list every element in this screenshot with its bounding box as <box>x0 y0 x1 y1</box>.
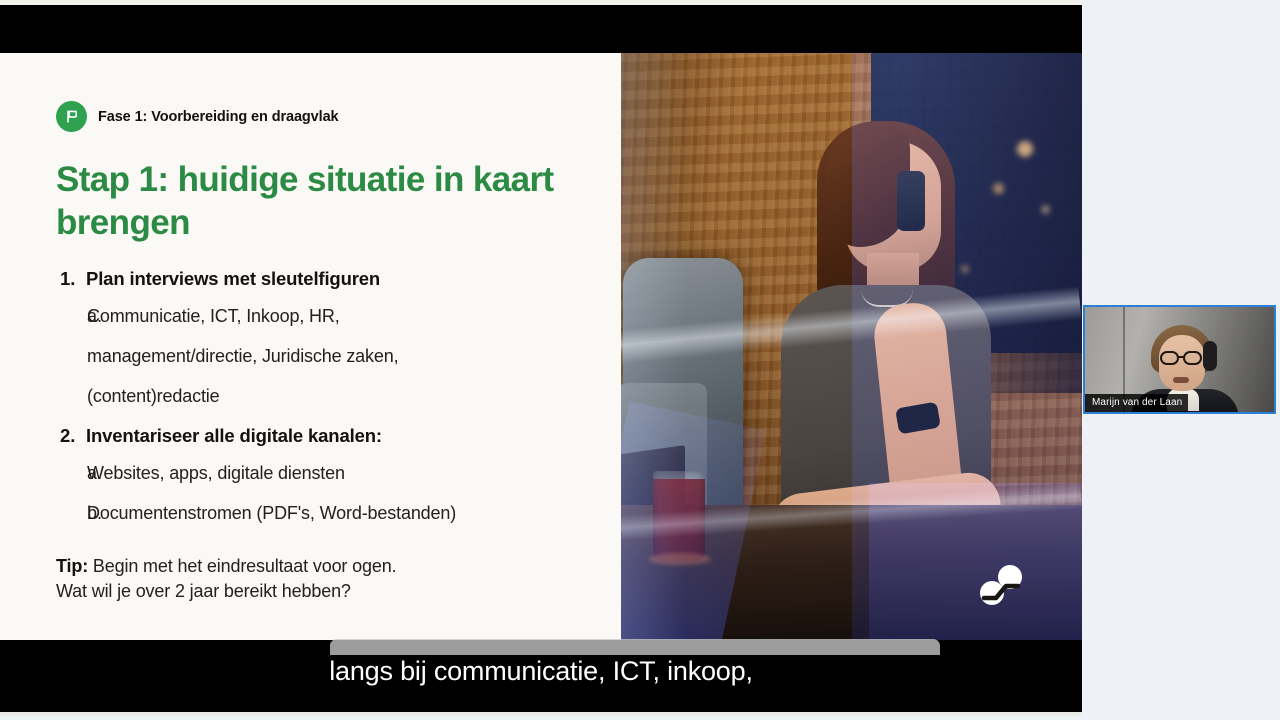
substep-label: Communicatie, ICT, Inkoop, HR, <box>87 297 340 337</box>
slide-step-list: 1. Plan interviews met sleutelfiguren a.… <box>56 264 597 534</box>
step-number: 2. <box>56 421 86 451</box>
headphones-icon <box>1203 341 1217 371</box>
list-item: b. Documentenstromen (PDF's, Word-bestan… <box>56 494 597 534</box>
participant-glasses-bridge <box>1178 356 1184 358</box>
list-item: a. Websites, apps, digitale diensten <box>56 454 597 494</box>
list-item: 2. Inventariseer alle digitale kanalen: … <box>56 421 597 534</box>
participant-glasses-left <box>1160 351 1179 365</box>
video-call-window: Fase 1: Voorbereiding en draagvlak Stap … <box>0 0 1280 720</box>
slide-text-column: Fase 1: Voorbereiding en draagvlak Stap … <box>0 53 621 640</box>
slide-title: Stap 1: huidige situatie in kaart brenge… <box>56 159 566 244</box>
participant-name-label: Marijn van der Laan <box>1085 394 1188 412</box>
substep-number: a. <box>56 297 87 337</box>
slide-tip-line2: Wat wil je over 2 jaar bereikt hebben? <box>56 581 351 601</box>
substep-number: b. <box>56 494 87 534</box>
list-item: a. Communicatie, ICT, Inkoop, HR, <box>56 297 597 337</box>
list-item: 1. Plan interviews met sleutelfiguren a.… <box>56 264 597 417</box>
slide-tip-line1: Begin met het eindresultaat voor ogen. <box>93 556 397 576</box>
live-caption: langs bij communicatie, ICT, inkoop, <box>0 655 1082 688</box>
linked-circles-logo-icon <box>976 560 1026 610</box>
slide-substep-list: a. Communicatie, ICT, Inkoop, HR, manage… <box>56 297 597 417</box>
list-item: (content)redactie <box>56 377 597 417</box>
substep-label: management/directie, Juridische zaken, <box>87 337 398 377</box>
substep-label: Documentenstromen (PDF's, Word-bestanden… <box>87 494 456 534</box>
flag-icon <box>56 101 87 132</box>
stage-bottom-edge <box>0 712 1082 716</box>
presentation-slide: Fase 1: Voorbereiding en draagvlak Stap … <box>0 53 1082 640</box>
slide-tip-label: Tip: <box>56 556 88 576</box>
letterbox-top <box>0 5 1082 53</box>
participant-tile[interactable]: Marijn van der Laan <box>1083 305 1276 414</box>
slide-tip: Tip: Begin met het eindresultaat voor og… <box>56 554 597 604</box>
step-number: 1. <box>56 264 86 294</box>
substep-number: a. <box>56 454 87 494</box>
slide-eyebrow: Fase 1: Voorbereiding en draagvlak <box>56 101 597 132</box>
step-label: Plan interviews met sleutelfiguren <box>86 264 380 294</box>
slide-photo <box>621 53 1082 640</box>
participant-glasses-right <box>1183 351 1202 365</box>
substep-label: (content)redactie <box>87 377 220 417</box>
slide-substep-list: a. Websites, apps, digitale diensten b. … <box>56 454 597 534</box>
list-item: management/directie, Juridische zaken, <box>56 337 597 377</box>
substep-label: Websites, apps, digitale diensten <box>87 454 345 494</box>
slide-eyebrow-label: Fase 1: Voorbereiding en draagvlak <box>98 109 339 125</box>
step-label: Inventariseer alle digitale kanalen: <box>86 421 382 451</box>
caption-backdrop <box>330 639 940 655</box>
participant-mouth <box>1173 377 1189 383</box>
shared-screen-stage[interactable]: Fase 1: Voorbereiding en draagvlak Stap … <box>0 0 1082 716</box>
